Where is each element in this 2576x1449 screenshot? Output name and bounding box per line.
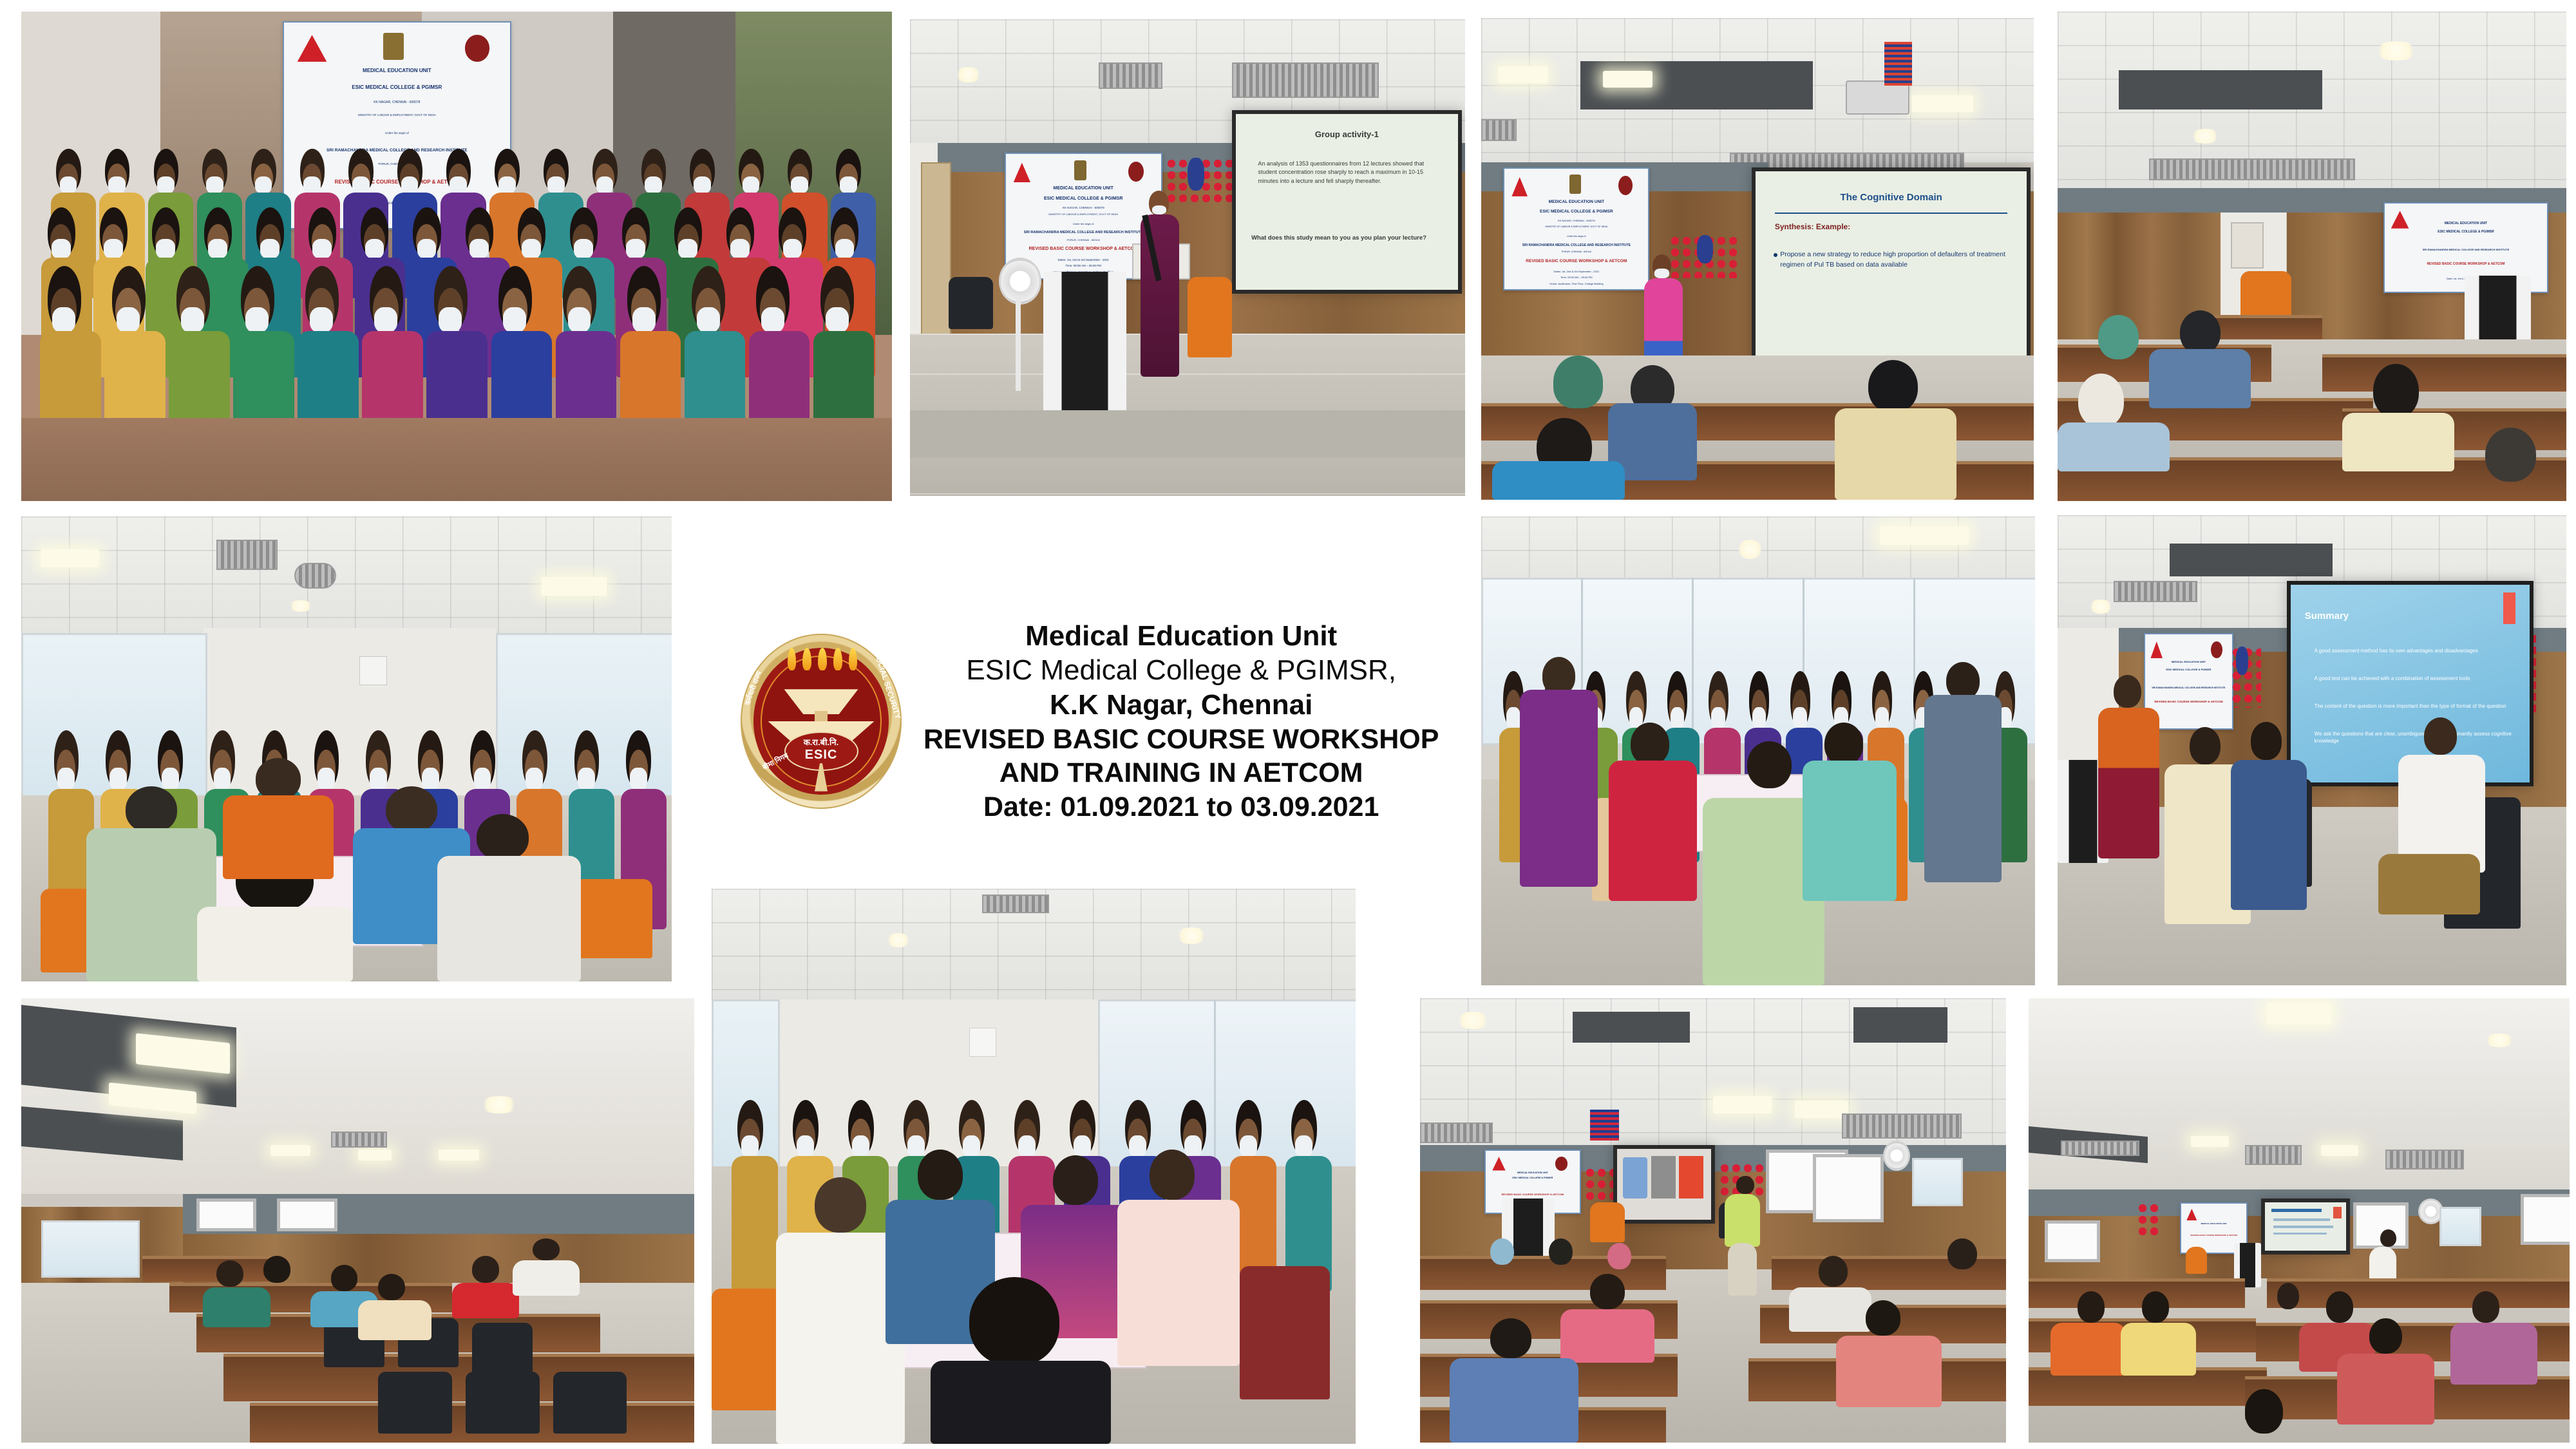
slide-title: Group activity-1 [1251, 129, 1443, 139]
face-mask [1018, 1135, 1036, 1158]
face-mask [108, 176, 126, 194]
face-mask [1129, 1135, 1146, 1158]
face-mask [1752, 707, 1766, 730]
banner-aegis-label: Under the aegis of [1510, 235, 1642, 238]
esic-logo: क.रा.बी.नि. ESIC SOCIAL SECURITY कर्मचार… [741, 634, 902, 809]
slide-bullet-4: We ask the questions that are clear, una… [2315, 731, 2513, 745]
face-mask [1711, 707, 1725, 730]
slide-bullet-1: A good assessment method has its own adv… [2315, 648, 2513, 655]
face-mask [741, 1135, 759, 1158]
banner-heading-1: MEDICAL EDUCATION UNIT [1490, 1171, 1576, 1174]
face-mask [840, 176, 857, 194]
esic-acronym: ESIC [786, 748, 857, 762]
face-mask [401, 176, 419, 194]
face-mask [907, 1135, 925, 1158]
face-mask [694, 176, 711, 194]
banner-title: REVISED BASIC COURSE WORKSHOP & AETCOM [2391, 262, 2541, 266]
face-mask [206, 176, 223, 194]
banner-aegis-label: Under the aegis of [1012, 222, 1155, 225]
face-mask [783, 239, 802, 259]
title-line-6: Date: 01.09.2021 to 03.09.2021 [923, 790, 1439, 824]
title-line-5: AND TRAINING IN AETCOM [923, 756, 1439, 790]
face-mask [697, 307, 720, 333]
face-mask [317, 768, 335, 791]
slide-title: Summary [2305, 611, 2513, 621]
face-mask [596, 176, 614, 194]
face-mask [835, 239, 855, 259]
face-mask [365, 239, 384, 259]
face-mask [52, 239, 71, 259]
banner-heading-2: ESIC MEDICAL COLLEGE & PGIMSR [293, 84, 501, 90]
banner-heading-2: ESIC MEDICAL COLLEGE & PGIMSR [1490, 1177, 1576, 1179]
podium [1043, 272, 1126, 415]
banner-heading-4: MINISTRY OF LABOUR & EMPLOYMENT, GOVT OF… [1510, 225, 1642, 228]
face-mask [1875, 707, 1889, 730]
face-mask [370, 768, 387, 791]
face-mask [826, 307, 849, 333]
face-mask [260, 239, 279, 259]
face-mask [743, 176, 760, 194]
face-mask [52, 307, 75, 333]
banner-host-1: SRI RAMACHANDRA MEDICAL COLLEGE AND RESE… [1012, 231, 1155, 234]
face-mask [1240, 1135, 1257, 1158]
photo-collage: MEDICAL EDUCATION UNIT ESIC MEDICAL COLL… [0, 0, 2576, 1449]
face-mask [632, 307, 656, 333]
photo-summary-panel: MEDICAL EDUCATION UNIT ESIC MEDICAL COLL… [2058, 515, 2566, 985]
projection-screen: Group activity-1 An analysis of 1353 que… [1232, 110, 1462, 294]
face-mask [852, 1135, 869, 1158]
face-mask [1184, 1135, 1202, 1158]
banner-heading-4: MINISTRY OF LABOUR & EMPLOYMENT, GOVT OF… [293, 113, 501, 117]
face-mask [208, 239, 227, 259]
banner-host-2: PORUR, CHENNAI - 600116 [1510, 251, 1642, 253]
center-text-lines: Medical Education Unit ESIC Medical Coll… [923, 619, 1439, 824]
banner-host-1: SRI RAMACHANDRA MEDICAL COLLEGE AND RESE… [293, 148, 501, 153]
banner-host-1: SRI RAMACHANDRA MEDICAL COLLEGE AND RESE… [2149, 687, 2229, 689]
banner-title: REVISED BASIC COURSE WORKSHOP & AETCOM [1490, 1193, 1576, 1196]
slide-question: What does this study mean to you as you … [1251, 234, 1440, 243]
face-mask [574, 239, 593, 259]
face-mask [417, 239, 437, 259]
face-mask [522, 239, 541, 259]
ceiling-projector [1846, 80, 1909, 115]
lamp-flame-5 [849, 648, 858, 670]
presenter-head [1736, 1176, 1754, 1194]
title-line-3: K.K Nagar, Chennai [923, 688, 1439, 723]
face-mask [303, 176, 321, 194]
face-mask [1506, 707, 1520, 730]
banner-heading-3: KK NAGAR, CHENNAI - 600078 [293, 100, 501, 104]
lamp-flame-1 [788, 648, 797, 670]
banner-title: REVISED BASIC COURSE WORKSHOP & AETCOM [2149, 700, 2229, 703]
face-mask [422, 768, 439, 791]
face-mask [678, 239, 697, 259]
face-mask [791, 176, 808, 194]
presenter-body [1725, 1194, 1760, 1247]
projection-screen: The Cognitive Domain Synthesis: Example:… [1752, 167, 2030, 363]
banner-heading-1: MEDICAL EDUCATION UNIT [1510, 200, 1642, 204]
center-title-panel: क.रा.बी.नि. ESIC SOCIAL SECURITY कर्मचार… [741, 567, 1488, 876]
banner-dates: Dates: 1st, 2nd & 3rd September - 2021 [1510, 270, 1642, 273]
photo-feedback-session-hall: MEDICAL EDUCATION UNIT REVISED BASIC COU… [2029, 998, 2570, 1443]
esic-devanagari: क.रा.बी.नि. [786, 736, 857, 748]
face-mask [1295, 1135, 1312, 1158]
slide-bullet-3: The content of the question is more impo… [2315, 703, 2513, 710]
banner-heading-1: MEDICAL EDUCATION UNIT [1012, 186, 1155, 191]
face-mask [761, 307, 784, 333]
title-line-2: ESIC Medical College & PGIMSR, [923, 653, 1439, 688]
face-mask [730, 239, 750, 259]
photo-podium-session: MEDICAL EDUCATION UNIT ESIC MEDICAL COLL… [910, 19, 1465, 496]
banner-heading-1: MEDICAL EDUCATION UNIT [293, 68, 501, 73]
banner-heading-1: MEDICAL EDUCATION UNIT [2149, 660, 2229, 663]
face-mask [568, 307, 591, 333]
face-mask [156, 239, 175, 259]
photo-auditorium-wide-view: MEDICAL EDUCATION UNIT ESIC MEDICAL COLL… [2058, 12, 2566, 501]
lamp-flame-4 [833, 648, 842, 670]
banner-heading-4: MINISTRY OF LABOUR & EMPLOYMENT, GOVT OF… [1012, 213, 1155, 216]
photo-group-work-center [712, 889, 1356, 1444]
face-mask [352, 176, 370, 194]
face-mask [109, 768, 127, 791]
banner-heading-1: MEDICAL EDUCATION UNIT [2184, 1222, 2244, 1225]
face-mask [255, 176, 272, 194]
banner-host-2: PORUR, CHENNAI - 600116 [1012, 238, 1155, 241]
face-mask [245, 307, 269, 333]
person-body [732, 1156, 778, 1292]
slide-title: The Cognitive Domain [1775, 192, 2008, 203]
photo-group-activity-table [1481, 516, 2035, 985]
face-mask [630, 768, 647, 791]
lamp-flame-3 [818, 648, 827, 670]
banner-venue: Venue: Auditorium, First Floor, College … [1510, 282, 1642, 285]
face-mask [1671, 707, 1685, 730]
banner-heading-2: ESIC MEDICAL COLLEGE & PGIMSR [2391, 230, 2541, 234]
photo-cognitive-domain-lecture: MEDICAL EDUCATION UNIT ESIC MEDICAL COLL… [1481, 18, 2034, 500]
banner-title: REVISED BASIC COURSE WORKSHOP & AETCOM [1510, 259, 1642, 263]
projection-screen [2261, 1198, 2350, 1255]
face-mask [526, 768, 543, 791]
banner-title: REVISED BASIC COURSE WORKSHOP & AETCOM [2184, 1234, 2244, 1236]
banner-heading-1: MEDICAL EDUCATION UNIT [2391, 222, 2541, 225]
face-mask [157, 176, 175, 194]
photo-small-group-discussion [21, 516, 672, 981]
face-mask [312, 239, 332, 259]
banner-aegis-label: Under the aegis of [293, 131, 501, 135]
photo-interactive-session: MEDICAL EDUCATION UNIT ESIC MEDICAL COLL… [1420, 998, 2006, 1443]
title-line-4: REVISED BASIC COURSE WORKSHOP [923, 723, 1439, 756]
face-mask [57, 768, 75, 791]
banner-heading-2: ESIC MEDICAL COLLEGE & PGIMSR [1510, 209, 1642, 214]
face-mask [104, 239, 123, 259]
banner-host-1: SRI RAMACHANDRA MEDICAL COLLEGE AND RESE… [2391, 248, 2541, 251]
face-mask [498, 176, 516, 194]
face-mask [60, 176, 77, 194]
face-mask [162, 768, 179, 791]
face-mask [374, 307, 397, 333]
banner-heading-3: KK NAGAR, CHENNAI - 600078 [1510, 219, 1642, 222]
face-mask [117, 307, 140, 333]
event-banner: MEDICAL EDUCATION UNIT ESIC MEDICAL COLL… [1503, 167, 1649, 290]
banner-time: Time: 09:00 AM – 05:00 PM [1510, 276, 1642, 279]
face-mask [181, 307, 204, 333]
face-mask [310, 307, 333, 333]
photo-lecture-hall-participants [21, 998, 694, 1443]
face-mask [469, 239, 489, 259]
face-mask [963, 1135, 980, 1158]
face-mask [450, 176, 467, 194]
face-mask [474, 768, 491, 791]
banner-heading-3: KK NAGAR, CHENNAI - 600078 [1012, 206, 1155, 209]
face-mask [547, 176, 565, 194]
face-mask [626, 239, 645, 259]
slide-subtitle: Synthesis: Example: [1775, 222, 1850, 231]
face-mask [214, 768, 231, 791]
banner-heading-2: ESIC MEDICAL COLLEGE & PGIMSR [1012, 196, 1155, 201]
title-line-1: Medical Education Unit [923, 619, 1439, 654]
face-mask [645, 176, 662, 194]
photo-group-photograph: MEDICAL EDUCATION UNIT ESIC MEDICAL COLL… [21, 12, 892, 501]
slide-body: An analysis of 1353 questionnaires from … [1258, 160, 1440, 186]
slide-bullet-2: A good test can be achieved with a combi… [2315, 676, 2513, 683]
slide-bullet: Propose a new strategy to reduce high pr… [1780, 250, 2007, 269]
face-mask [439, 307, 462, 333]
projection-screen [1613, 1145, 1715, 1224]
banner-host-1: SRI RAMACHANDRA MEDICAL COLLEGE AND RESE… [1510, 243, 1642, 247]
banner-heading-2: ESIC MEDICAL COLLEGE & PGIMSR [2149, 668, 2229, 671]
face-mask [578, 768, 595, 791]
face-mask [797, 1135, 814, 1158]
face-mask [503, 307, 526, 333]
face-mask [1793, 707, 1807, 730]
